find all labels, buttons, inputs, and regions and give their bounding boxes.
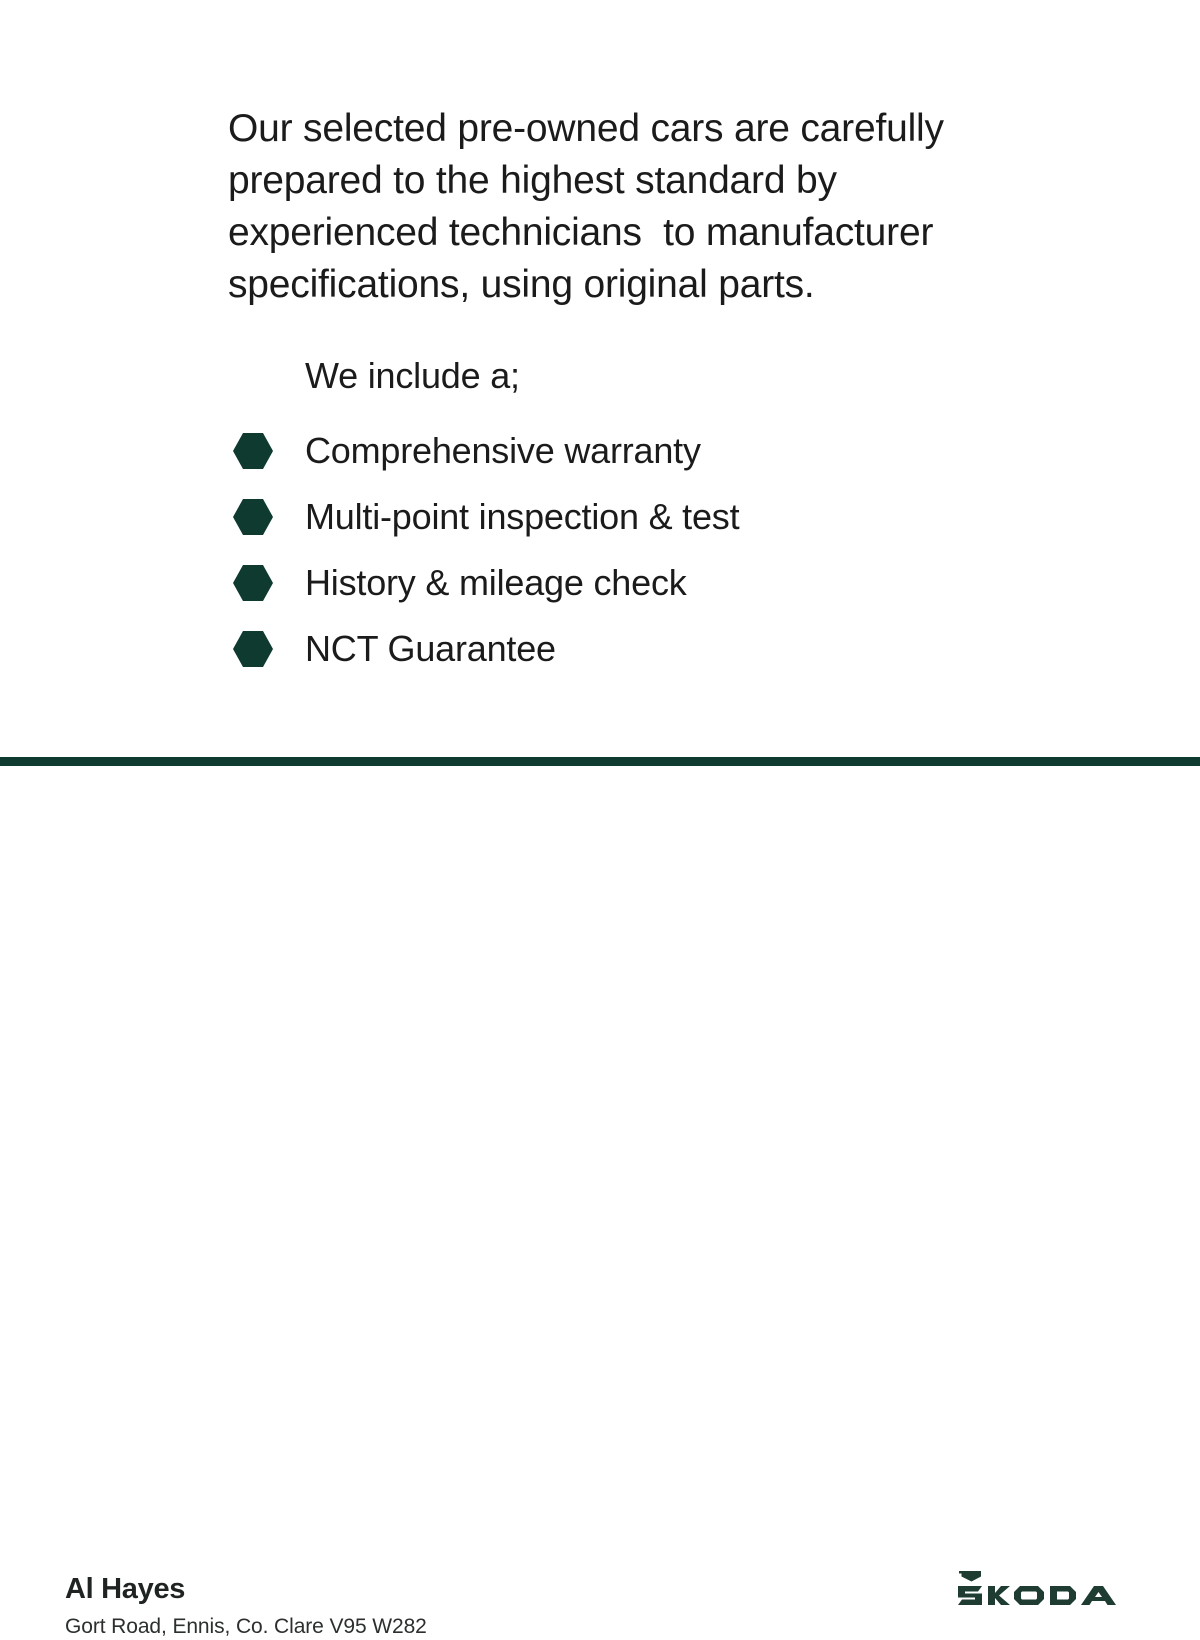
benefits-list: Comprehensive warranty Multi-point inspe… [232, 418, 1032, 682]
list-item-label: Comprehensive warranty [305, 430, 701, 472]
dealer-name: Al Hayes [65, 1572, 185, 1606]
list-item: NCT Guarantee [232, 616, 1032, 682]
list-item: Comprehensive warranty [232, 418, 1032, 484]
list-item: Multi-point inspection & test [232, 484, 1032, 550]
promo-slide: Our selected pre-owned cars are carefull… [0, 0, 1200, 900]
list-item-label: NCT Guarantee [305, 628, 556, 670]
headline-line-1: Our selected pre-owned cars are carefull… [228, 103, 1018, 155]
footer-bar: Al Hayes Gort Road, Ennis, Co. Clare V95… [0, 766, 1200, 900]
list-item: History & mileage check [232, 550, 1032, 616]
headline-block: Our selected pre-owned cars are carefull… [228, 103, 1018, 311]
list-item-label: Multi-point inspection & test [305, 496, 739, 538]
hexagon-bullet-icon [232, 432, 274, 470]
skoda-wordmark-icon [955, 1571, 1140, 1611]
headline-line-3: experienced technicians to manufacturer [228, 207, 1018, 259]
dealer-address: Gort Road, Ennis, Co. Clare V95 W282 [65, 1614, 427, 1640]
hexagon-bullet-icon [232, 564, 274, 602]
hexagon-bullet-icon [232, 498, 274, 536]
footer-divider [0, 757, 1200, 766]
hexagon-bullet-icon [232, 630, 274, 668]
list-item-label: History & mileage check [305, 562, 687, 604]
headline-line-2: prepared to the highest standard by [228, 155, 1018, 207]
headline-line-4: specifications, using original parts. [228, 259, 1018, 311]
include-intro-text: We include a; [305, 353, 520, 399]
